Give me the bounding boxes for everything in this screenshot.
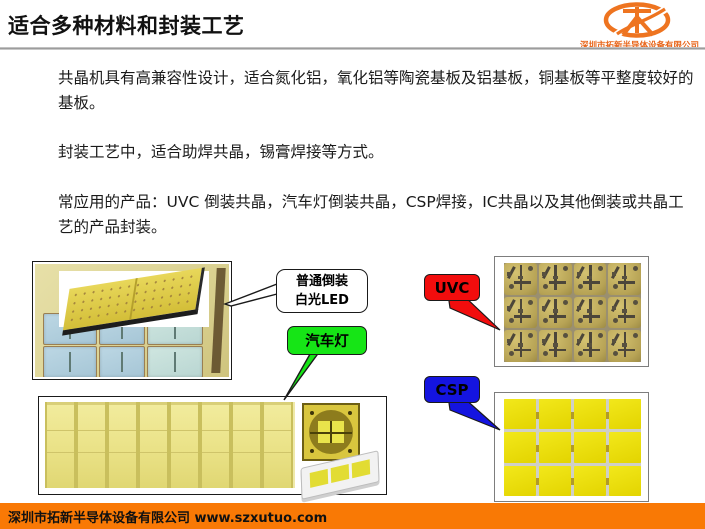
callout-uvc[interactable]: UVC [424,274,480,301]
strip-column [200,402,231,488]
csp-chip [574,399,606,429]
csp-chip [504,466,536,496]
uvc-chip [539,330,572,362]
csp-chip [609,466,641,496]
uvc-chip [539,297,572,329]
emitter-pad [318,421,344,443]
uvc-gold-chip-array-photo [494,256,649,367]
csp-chip [574,432,606,462]
strip-column [262,402,293,488]
phosphor-strip-array [45,402,295,488]
csp-chip [539,466,571,496]
zoom-inset [59,271,209,327]
strip-column [107,402,138,488]
csp-chip [504,399,536,429]
paragraph-process: 封装工艺中，适合助焊共晶，锡膏焊接等方式。 [58,140,698,165]
callout-car-lamp[interactable]: 汽车灯 [287,326,367,355]
csp-chip-grid [504,399,641,496]
white-led-callout-leader [225,282,283,318]
uvc-chip-grid [504,263,641,362]
footer-bar: 深圳市拓新半导体设备有限公司 www.szxutuo.com [0,503,705,529]
strip-column [231,402,262,488]
strip-column [45,402,76,488]
csp-chip [539,399,571,429]
callout-white-led[interactable]: 普通倒装 白光LED [276,269,368,313]
uvc-chip [608,297,641,329]
uvc-chip [574,330,607,362]
paragraph-products: 常应用的产品：UVC 倒装共晶，汽车灯倒装共晶，CSP焊接，IC共晶以及其他倒装… [58,190,698,240]
csp-chip [504,432,536,462]
csp-yellow-chip-array-photo [494,392,649,502]
yellow-strip-array-photo [38,396,387,495]
uvc-chip [539,263,572,295]
cob-chip-topview [302,403,360,461]
csp-chip [609,432,641,462]
uvc-chip [504,330,537,362]
corner-dot [310,411,314,415]
csp-chip [539,432,571,462]
csp-chip [609,399,641,429]
uvc-chip [574,263,607,295]
die-cell [99,346,145,377]
die-cell [43,346,97,377]
xutuo-logo-icon [601,2,673,40]
uvc-chip [574,297,607,329]
strip-column [169,402,200,488]
corner-dot [310,449,314,453]
uvc-chip [608,330,641,362]
csp-chip [574,466,606,496]
callout-csp[interactable]: CSP [424,376,480,403]
strip-column [76,402,107,488]
slide-canvas: 适合多种材料和封装工艺 深圳市拓新半导体设备有限公司 共晶机具有高兼容性设计，适… [0,0,705,529]
page-title: 适合多种材料和封装工艺 [8,10,245,40]
bump-array [66,271,198,326]
die-cell [147,346,203,377]
uvc-chip [504,263,537,295]
uvc-chip [608,263,641,295]
corner-dot [348,449,352,453]
company-logo: 深圳市拓新半导体设备有限公司 [581,2,701,52]
header-divider [0,47,705,50]
flip-chip-board-photo [32,261,232,380]
strip-column [138,402,169,488]
flip-chip-photo-content [35,264,229,377]
paragraph-compatibility: 共晶机具有高兼容性设计，适合氮化铝，氧化铝等陶瓷基板及铝基板，铜基板等平整度较好… [58,66,698,116]
uvc-chip [504,297,537,329]
footer-text: 深圳市拓新半导体设备有限公司 www.szxutuo.com [8,507,327,526]
gold-substrate-closeup [62,267,205,335]
corner-dot [348,411,352,415]
